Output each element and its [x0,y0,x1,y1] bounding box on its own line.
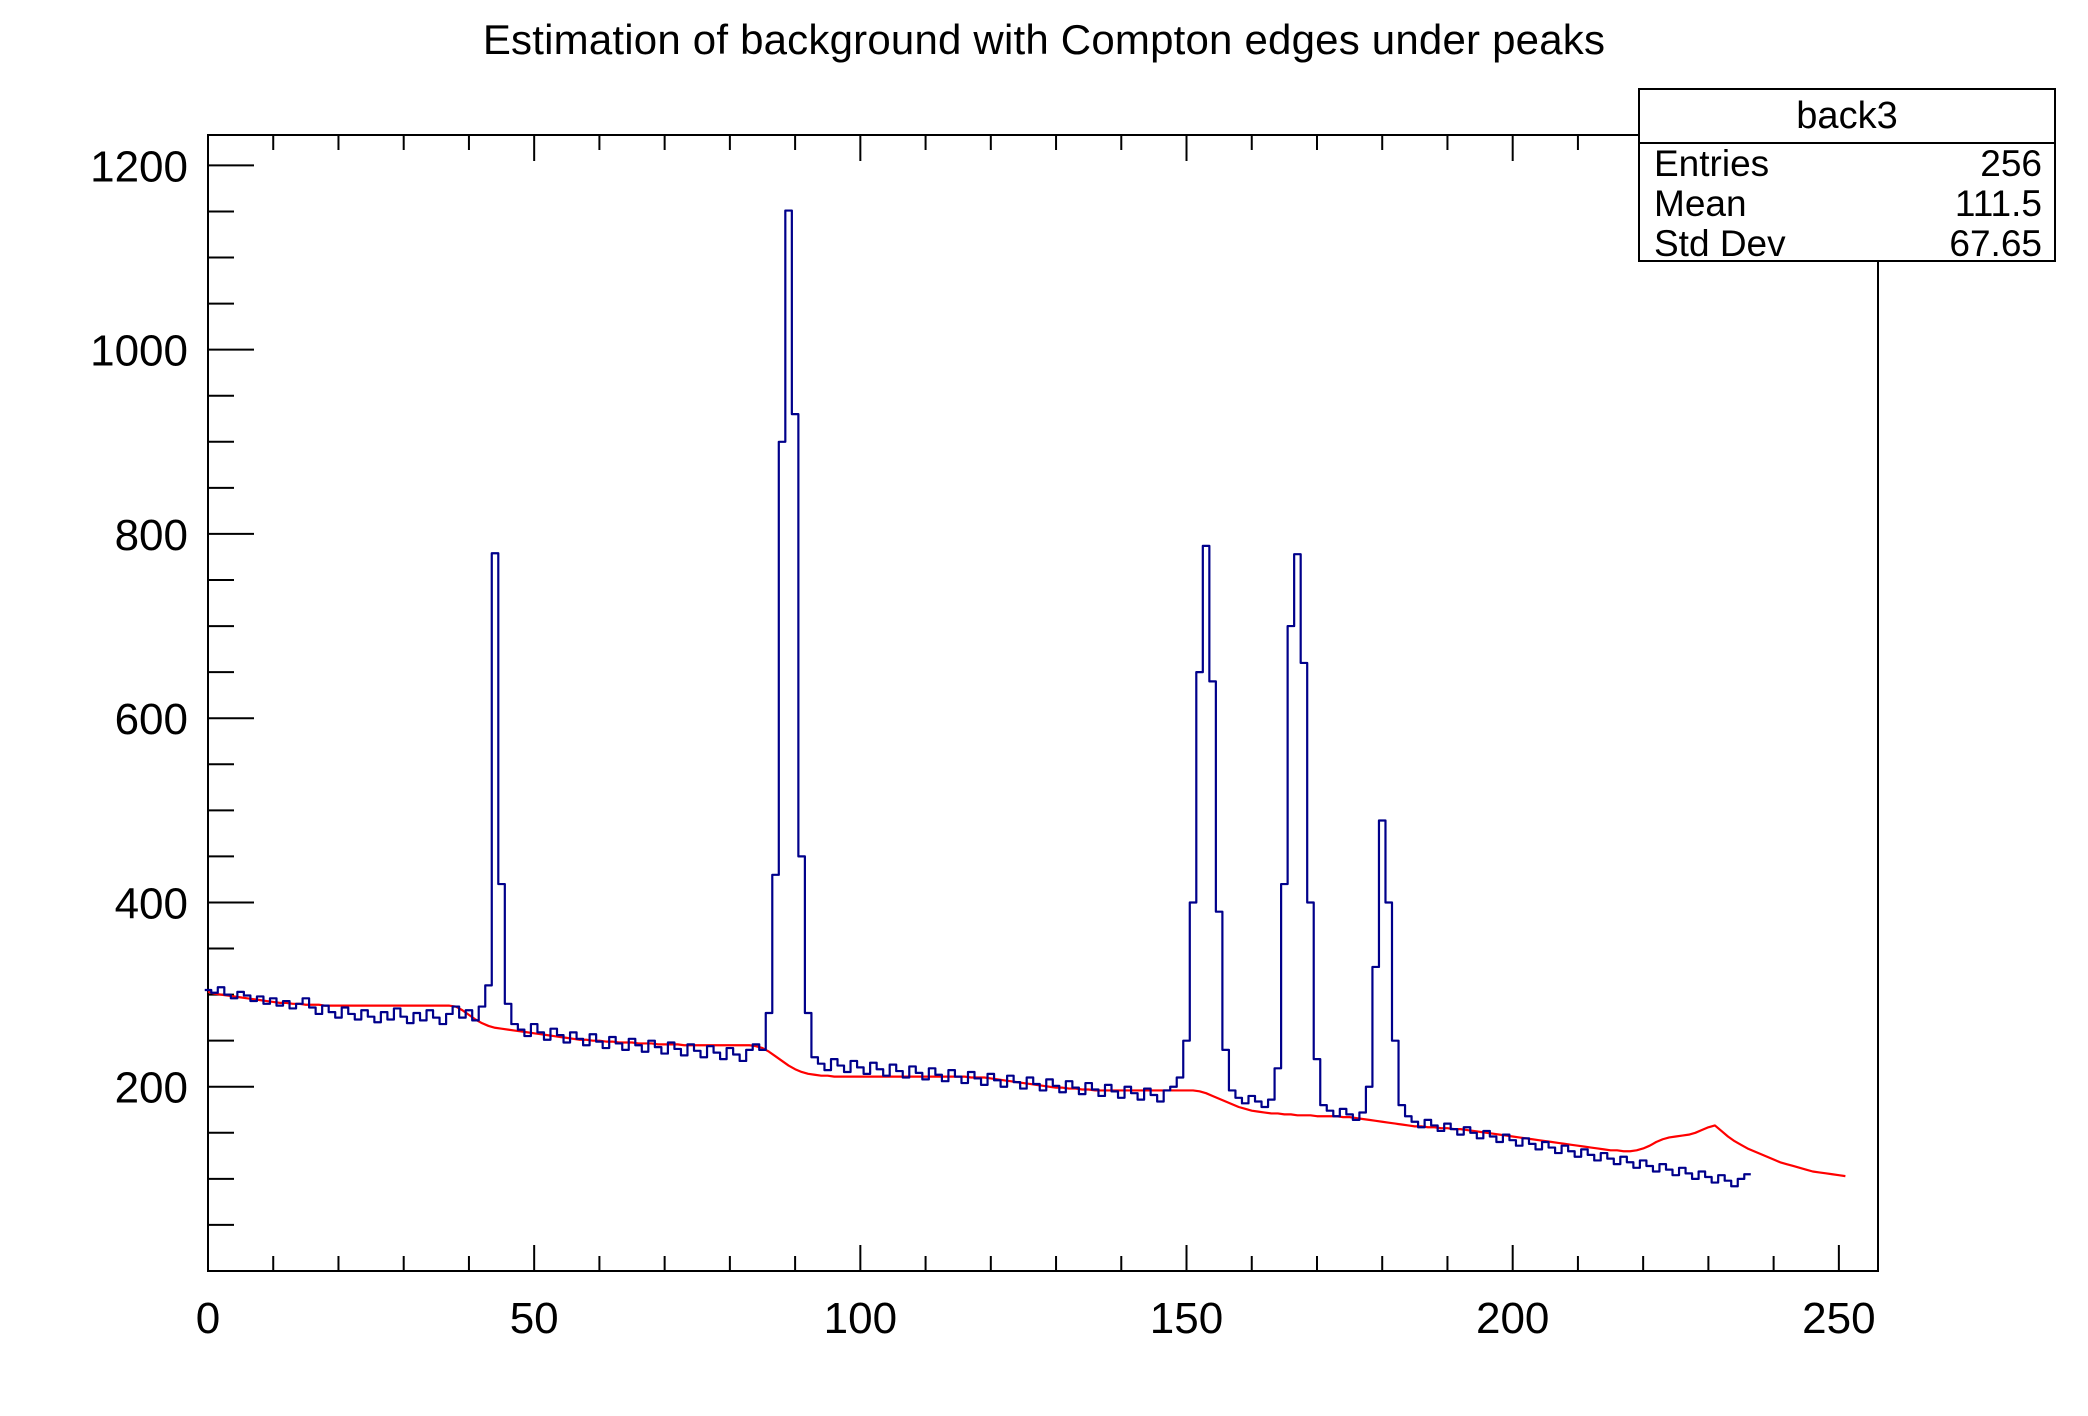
data-series-group [205,211,1846,1187]
y-tick-label: 600 [115,695,188,744]
series-spectrum [205,211,1751,1187]
y-axis-tick-labels: 20040060080010001200 [90,142,188,1112]
stats-value-mean: 111.5 [1955,184,2042,224]
y-axis-ticks [208,165,254,1271]
stats-key-mean: Mean [1654,184,1747,224]
x-tick-label: 0 [196,1294,220,1343]
plot-frame [208,135,1878,1271]
stats-box-title: back3 [1640,90,2054,144]
stats-row-stddev: Std Dev 67.65 [1640,224,2054,264]
y-tick-label: 1200 [90,142,188,191]
stats-row-mean: Mean 111.5 [1640,184,2054,224]
stats-row-entries: Entries 256 [1640,144,2054,184]
stats-value-stddev: 67.65 [1949,224,2042,264]
stats-box: back3 Entries 256 Mean 111.5 Std Dev 67.… [1638,88,2056,262]
x-tick-label: 250 [1802,1294,1875,1343]
stats-value-entries: 256 [1980,144,2042,184]
x-axis-tick-labels: 050100150200250 [196,1294,1876,1343]
x-tick-label: 100 [824,1294,897,1343]
y-tick-label: 1000 [90,327,188,376]
y-tick-label: 800 [115,511,188,560]
x-tick-label: 200 [1476,1294,1549,1343]
root-canvas: Estimation of background with Compton ed… [0,0,2088,1416]
x-tick-label: 150 [1150,1294,1223,1343]
y-tick-label: 400 [115,879,188,928]
x-axis-ticks [208,135,1839,1271]
stats-key-stddev: Std Dev [1654,224,1786,264]
stats-key-entries: Entries [1654,144,1769,184]
x-tick-label: 50 [510,1294,559,1343]
y-tick-label: 200 [115,1064,188,1113]
